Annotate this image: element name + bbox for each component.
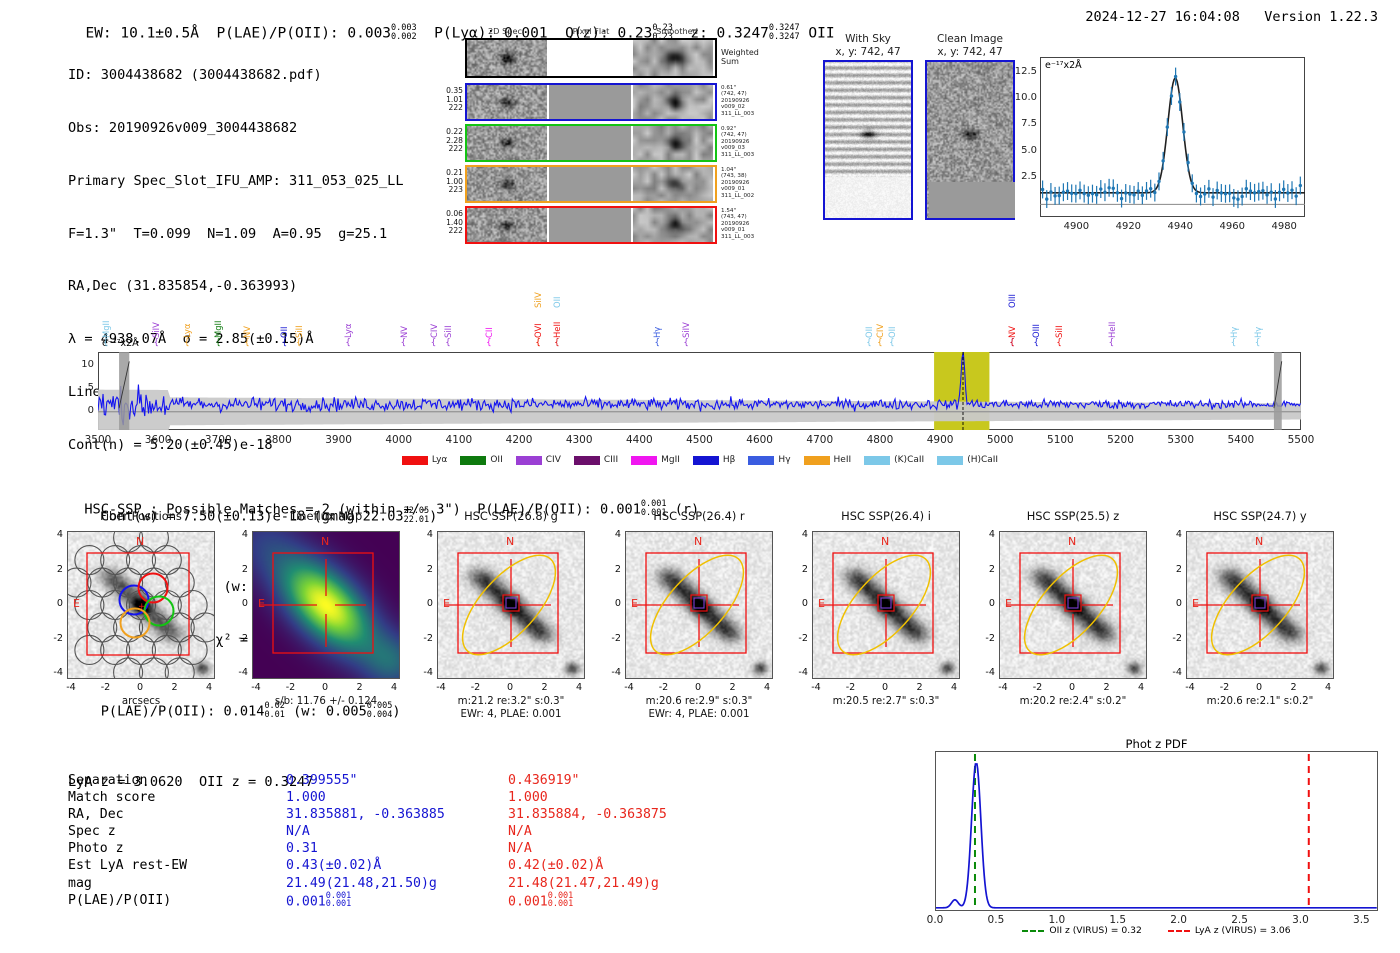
cutout-ytick: -2 [417,633,433,644]
line-marker-brace: { [877,338,883,348]
line-fit-ytick: 2.5 [1007,171,1037,182]
cutout-ytick: -2 [232,633,248,644]
cutout-ytick: -4 [792,667,808,678]
spectrum-ytick: 10 [68,359,94,370]
legend-item: Hβ [693,455,736,465]
cutout-ytick: -4 [47,667,63,678]
emission-line-label: NV [1007,304,1017,338]
match-row-label: RA, Dec [68,806,286,823]
phot-z-xtick: 2.5 [1220,914,1260,926]
phot-z-xtick: 2.0 [1159,914,1199,926]
match-row-value-red: 31.835884, -0.363875 [508,806,748,823]
sky-panel-title: Clean Imagex, y: 742, 47 [913,33,1027,58]
masked-region [119,352,129,430]
legend-item: HeII [804,455,852,465]
line-marker-brace: { [431,338,437,348]
match-row-value-red: N/A [508,823,748,840]
cutout-ytick: 2 [417,564,433,575]
cutout-image-image[interactable] [1186,531,1334,679]
legend-swatch [804,456,830,465]
noise-envelope [98,390,1301,430]
match-table-row: Match score1.0001.000 [68,789,748,806]
cutout-ytick: 2 [979,564,995,575]
emission-line-label: OII [279,304,289,338]
spec2d-cutout [467,40,547,76]
cutout-ytick: 0 [417,598,433,609]
line-marker-brace: { [1255,338,1261,348]
emission-line-label: Hγ [1229,304,1239,338]
match-table-row: mag21.49(21.48,21.50)g21.48(21.47,21.49)… [68,875,748,892]
emission-line-label: MgII [213,304,223,338]
cutout-ytick: 2 [792,564,808,575]
emission-line-label: NV [399,304,409,338]
legend-swatch [748,456,774,465]
match-row-value-red: N/A [508,840,748,857]
info-radec: RA,Dec (31.835854,-0.363993) [68,278,437,296]
match-row-value-red: 0.42(±0.02)Å [508,857,748,874]
legend-swatch [937,456,963,465]
cutout-xtick: -4 [804,682,828,693]
spectrum-xtick: 5000 [976,434,1024,446]
emission-line-label: SiIV [151,304,161,338]
cutout-ytick: 4 [1166,529,1182,540]
match-row-label: Spec z [68,823,286,840]
compass-north: N [321,535,329,548]
cutout-caption-primary: m:20.6 re:2.9" s:0.3" [597,696,801,709]
line-fit-ytick: 12.5 [1007,66,1037,77]
cutout-panel-title: HSC SSP(26.8) g [419,509,603,523]
match-row-value-red: 0.436919" [508,772,748,789]
pixel-flat-cutout [547,40,633,76]
cutout-panel-title: HSC SSP(24.7) y [1168,509,1352,523]
line-marker-brace: { [554,338,560,348]
line-fit-xtick: 4960 [1212,221,1252,232]
spectrum-xtick: 5400 [1217,434,1265,446]
cutout-caption-secondary: EWr: 4, PLAE: 0.001 [409,709,613,722]
line-marker-brace: { [103,338,109,348]
match-row-value-blue: N/A [286,823,508,840]
match-table-row: RA, Dec31.835881, -0.36388531.835884, -0… [68,806,748,823]
match-row-label: Photo z [68,840,286,857]
cutout-panel-title: Fiber Positions [49,509,233,523]
match-table-row: Est LyA rest-EW0.43(±0.02)Å0.42(±0.02)Å [68,857,748,874]
emission-line-label: SiII [1054,304,1064,338]
line-marker-brace: { [184,338,190,348]
emission-line-label: SiII [294,304,304,338]
phot-z-xtick: 3.0 [1280,914,1320,926]
line-marker-brace: { [1033,338,1039,348]
pixel-flat-cutout [547,85,633,119]
emission-line-label: Lyα [343,304,353,338]
emission-line-label: OII [887,304,897,338]
cutout-xtick: 2 [1095,682,1119,693]
emission-line-label: MgII [101,304,111,338]
cutout-ytick: 0 [605,598,621,609]
cutout-xtick: 0 [1060,682,1084,693]
legend-swatch [631,456,657,465]
match-row-label: Est LyA rest-EW [68,857,286,874]
spectrum-ytick: 0 [68,405,94,416]
spectrum-xtick: 3700 [194,434,242,446]
phot-z-title: Phot z PDF [935,737,1378,751]
sky-panel-name: Clean Image [913,33,1027,46]
line-marker-brace: { [654,338,660,348]
match-row-label: mag [68,875,286,892]
legend-item: Lyα [402,455,447,465]
spectrum-xtick: 4300 [555,434,603,446]
spec2d-row-meta: 1.04" (743, 38) 20190926 v009_01 311_LL_… [721,167,754,199]
cutout-xtick: -4 [244,682,268,693]
cutout-panel-title: HSC SSP(26.4) i [794,509,978,523]
compass-north: N [1255,535,1263,548]
match-row-label: P(LAE)/P(OII) [68,892,286,910]
cutout-caption-primary: m:20.6 re:2.1" s:0.2" [1158,696,1362,709]
emission-line-label: HeII [552,304,562,338]
spec2d-row [465,83,717,121]
phot-z-xtick: 3.5 [1341,914,1381,926]
smoothed-cutout [633,208,713,242]
cutout-image-image[interactable] [999,531,1147,679]
cutout-xtick: 4 [1316,682,1340,693]
match-table-row: Photo z0.31N/A [68,840,748,857]
phot-z-legend-swatch [1168,930,1190,932]
info-obs: Obs: 20190926v009_3004438682 [68,120,437,138]
spectrum-xtick: 5200 [1097,434,1145,446]
line-marker-brace: { [1009,338,1015,348]
cutout-ytick: -2 [605,633,621,644]
emission-line-label: Hγ [1253,304,1263,338]
line-marker-brace: { [1056,338,1062,348]
compass-east: E [258,597,265,610]
cutout-image-image[interactable] [812,531,960,679]
emission-line-label: SiIV [533,274,543,308]
cutout-ytick: 4 [232,529,248,540]
masked-region [1274,352,1282,430]
cutout-ytick: 2 [605,564,621,575]
spec2d-row [465,124,717,162]
cutout-xtick: 4 [382,682,406,693]
cutout-xtick: 2 [348,682,372,693]
cutout-xtick: -2 [652,682,676,693]
phot-z-legend-label: OII z (VIRUS) = 0.32 [1049,925,1141,936]
cutout-xtick: 0 [498,682,522,693]
cutout-xtick: 4 [1129,682,1153,693]
compass-north: N [694,535,702,548]
match-row-value-red: 0.0010.0010.001 [508,892,748,910]
cutout-ytick: 4 [47,529,63,540]
emission-line-fit-plot: e⁻¹⁷x2Å2.55.07.510.012.54900492049404960… [1040,57,1305,217]
match-table: Separation0.399555"0.436919"Match score1… [68,772,748,910]
legend-swatch [516,456,542,465]
phot-z-legend-label: LyA z (VIRUS) = 3.06 [1195,925,1291,936]
cutout-image-image[interactable] [625,531,773,679]
legend-item: CIII [574,455,618,465]
cutout-ytick: 2 [1166,564,1182,575]
spectrum-xtick: 3500 [74,434,122,446]
phot-z-legend-item: LyA z (VIRUS) = 3.06 [1168,925,1291,936]
cutout-ytick: 2 [232,564,248,575]
legend-label: (K)CaII [894,455,924,465]
spec2d-cutout [467,85,547,119]
emission-line-label: NV [242,304,252,338]
spectrum-xtick: 4400 [615,434,663,446]
smoothed-cutout [633,167,713,201]
match-row-value-blue: 0.0010.0010.001 [286,892,508,910]
match-row-label: Match score [68,789,286,806]
cutout-panel-title: HSC SSP(26.4) r [607,509,791,523]
cutout-caption-primary: m:20.2 re:2.4" s:0.2" [971,696,1175,709]
spec2d-row [465,165,717,203]
cutout-ytick: 4 [417,529,433,540]
line-marker-brace: { [1109,338,1115,348]
legend-label: CIV [546,455,561,465]
match-row-label: Separation [68,772,286,789]
emission-line-label: SiIV [681,304,691,338]
spec2d-row-meta: 0.61" (742, 47) 20190926 v009_02 311_LL_… [721,85,754,117]
compass-east: E [73,597,80,610]
sky-panel-title: With Skyx, y: 742, 47 [811,33,925,58]
line-marker-brace: { [866,338,872,348]
cutout-xtick: 2 [908,682,932,693]
legend-item: MgII [631,455,680,465]
legend-label: Lyα [432,455,447,465]
cutout-xtick: -4 [59,682,83,693]
spectrum-xtick: 4600 [736,434,784,446]
compass-east: E [631,597,638,610]
cutout-xtick: 2 [533,682,557,693]
compass-east: E [443,597,450,610]
cutout-ytick: 2 [47,564,63,575]
cutout-ytick: -2 [792,633,808,644]
timestamp-version: 2024-12-27 16:04:08 Version 1.22.3 [1085,9,1378,25]
spectrum-xtick: 4200 [495,434,543,446]
info-primary-spec: Primary Spec_Slot_IFU_AMP: 311_053_025_L… [68,173,437,191]
legend-item: OII [460,455,502,465]
match-table-row: Spec zN/AN/A [68,823,748,840]
legend-label: (H)CaII [967,455,998,465]
cutout-xtick: -2 [94,682,118,693]
legend-swatch [864,456,890,465]
cutout-caption-primary: arcsecs [39,696,243,709]
spec2d-row-meta: 1.54" (743, 47) 20190926 v009_01 311_LL_… [721,208,754,240]
compass-north: N [136,535,144,548]
legend-swatch [402,456,428,465]
legend-item: CIV [516,455,561,465]
line-marker-brace: { [281,338,287,348]
cutout-caption-primary: m:20.5 re:2.7" s:0.3" [784,696,988,709]
cutout-xtick: 4 [755,682,779,693]
sky-panel-name: With Sky [811,33,925,46]
compass-north: N [881,535,889,548]
cutout-image-image[interactable] [437,531,585,679]
cutout-xtick: 0 [873,682,897,693]
spectrum-xtick: 5100 [1036,434,1084,446]
cutout-ytick: 4 [605,529,621,540]
phot-z-pdf-panel: Phot z PDF OII z (VIRUS) = 0.32LyA z (VI… [935,737,1378,947]
legend-label: HeII [834,455,852,465]
line-marker-brace: { [153,338,159,348]
legend-item: (H)CaII [937,455,998,465]
cutout-image-fibers[interactable] [67,531,215,679]
legend-label: OII [490,455,502,465]
cutout-ytick: 0 [232,598,248,609]
spec2d-row [465,38,717,78]
line-marker-brace: { [296,338,302,348]
spectrum-xtick: 3800 [254,434,302,446]
spec2d-panel: 2D SpecPixel FlatSmoothed0.351.012220.61… [425,36,745,236]
cutout-xtick: 0 [313,682,337,693]
phot-z-legend-swatch [1022,930,1044,932]
cutout-image-flux[interactable] [252,531,400,679]
compass-east: E [818,597,825,610]
line-fit-ytick: 5.0 [1007,145,1037,156]
line-fit-ytick: 7.5 [1007,118,1037,129]
cutout-ytick: 0 [792,598,808,609]
sky-panel-coords: x, y: 742, 47 [811,46,925,59]
cutout-xtick: 4 [567,682,591,693]
clean-image-mask [929,182,1015,218]
cutout-ytick: -4 [979,667,995,678]
pixel-flat-cutout [547,126,633,160]
sky-panel-coords: x, y: 742, 47 [913,46,1027,59]
spectrum-xtick: 3900 [315,434,363,446]
spec2d-col-header: Pixel Flat [567,26,615,36]
clean-image [925,60,1015,220]
legend-item: Hγ [748,455,790,465]
match-row-value-red: 1.000 [508,789,748,806]
cutout-caption-primary: s/b: 11.76 +/- 0.124 [224,696,428,709]
smoothed-cutout [633,40,713,76]
spectrum-line-legend: LyαOIICIVCIIIMgIIHβHγHeII(K)CaII(H)CaII [0,455,1400,465]
line-fit-xtick: 4900 [1056,221,1096,232]
line-marker-brace: { [1231,338,1237,348]
spectrum-xtick: 5500 [1277,434,1325,446]
spectrum-ytick: 5 [68,382,94,393]
cutout-xtick: -4 [429,682,453,693]
emission-line-label: CIV [875,304,885,338]
compass-east: E [1192,597,1199,610]
info-id: ID: 3004438682 (3004438682.pdf) [68,67,437,85]
emission-line-label: SiII [443,304,453,338]
spec2d-row-stats: 0.222.28222 [425,128,463,154]
emission-line-label: Hγ [652,304,662,338]
phot-z-canvas [936,752,1377,910]
cutout-ytick: -4 [417,667,433,678]
spec2d-row-meta: 0.92" (742, 47) 20190926 v009_03 311_LL_… [721,126,754,158]
cutout-ytick: 0 [1166,598,1182,609]
spectrum-xtick: 4100 [435,434,483,446]
spec2d-row-stats: 0.211.00223 [425,169,463,195]
spectrum-xtick: 5300 [1157,434,1205,446]
spectrum-canvas [98,352,1301,430]
phot-z-legend-item: OII z (VIRUS) = 0.32 [1022,925,1141,936]
phot-z-curve [936,764,1377,908]
full-spectrum-plot: e⁻¹⁷x2Å051035003600370038003900400041004… [98,352,1301,430]
cutout-xtick: 0 [128,682,152,693]
emission-line-label: OIII [1031,304,1041,338]
legend-label: MgII [661,455,680,465]
spectrum-xtick: 4000 [375,434,423,446]
spectrum-xtick: 4500 [676,434,724,446]
spec2d-col-header: Smoothed [653,26,701,36]
legend-swatch [460,456,486,465]
spectrum-xtick: 4700 [796,434,844,446]
cutout-ytick: 0 [47,598,63,609]
emission-line-label: CIV [429,304,439,338]
cutout-xtick: -2 [464,682,488,693]
line-fit-xtick: 4940 [1160,221,1200,232]
cutout-xtick: -2 [1026,682,1050,693]
emission-line-label: OVI [533,304,543,338]
spec2d-cutout [467,208,547,242]
cutout-xtick: -4 [1178,682,1202,693]
match-row-value-blue: 0.43(±0.02)Å [286,857,508,874]
cutout-xtick: 0 [686,682,710,693]
line-marker-brace: { [889,338,895,348]
cutout-xtick: -4 [991,682,1015,693]
header-z-sup: 0.32470.3247 [769,24,800,41]
cutout-ytick: -2 [1166,633,1182,644]
match-row-value-blue: 31.835881, -0.363885 [286,806,508,823]
emission-line-label: HeII [1107,304,1117,338]
spectrum-xtick: 4900 [916,434,964,446]
spec2d-row [465,206,717,244]
line-fit-xtick: 4920 [1108,221,1148,232]
cutout-ytick: -4 [232,667,248,678]
cutout-xtick: 2 [1282,682,1306,693]
spec2d-row-stats: 0.061.40222 [425,210,463,236]
phot-z-legend: OII z (VIRUS) = 0.32LyA z (VIRUS) = 3.06 [935,925,1378,936]
cutout-ytick: -4 [1166,667,1182,678]
emission-line-label: OII [552,274,562,308]
cutout-ytick: 4 [792,529,808,540]
line-marker-brace: { [215,338,221,348]
cutout-xtick: 2 [163,682,187,693]
line-marker-brace: { [401,338,407,348]
cutout-xtick: 2 [721,682,745,693]
spec2d-row-stats: 0.351.01222 [425,87,463,113]
cutout-caption-secondary: EWr: 4, PLAE: 0.001 [597,709,801,722]
legend-label: Hβ [723,455,736,465]
pixel-flat-cutout [547,167,633,201]
line-fit-xtick: 4980 [1264,221,1304,232]
smoothed-cutout [633,126,713,160]
match-row-value-blue: 21.49(21.48,21.50)g [286,875,508,892]
spectrum-xtick: 3600 [134,434,182,446]
line-marker-brace: { [486,338,492,348]
cutout-ytick: -2 [979,633,995,644]
weighted-sum-label: Weighted Sum [721,48,759,66]
cutout-ytick: -4 [605,667,621,678]
line-marker-brace: { [345,338,351,348]
with-sky-image [823,60,913,220]
compass-east: E [1005,597,1012,610]
cutout-xtick: -2 [1213,682,1237,693]
line-fit-ytick: 10.0 [1007,92,1037,103]
cutout-ytick: -2 [47,633,63,644]
cutout-xtick: -4 [617,682,641,693]
emission-line-label: OII [864,304,874,338]
cutout-panel-title: HSC SSP(25.5) z [981,509,1165,523]
legend-label: Hγ [778,455,790,465]
spec2d-col-header: 2D Spec [481,26,529,36]
spec2d-cutout [467,167,547,201]
cutout-xtick: 0 [1247,682,1271,693]
cutout-xtick: -2 [839,682,863,693]
emission-line-label: CII [484,304,494,338]
phot-z-xtick: 1.0 [1037,914,1077,926]
match-row-value-blue: 1.000 [286,789,508,806]
